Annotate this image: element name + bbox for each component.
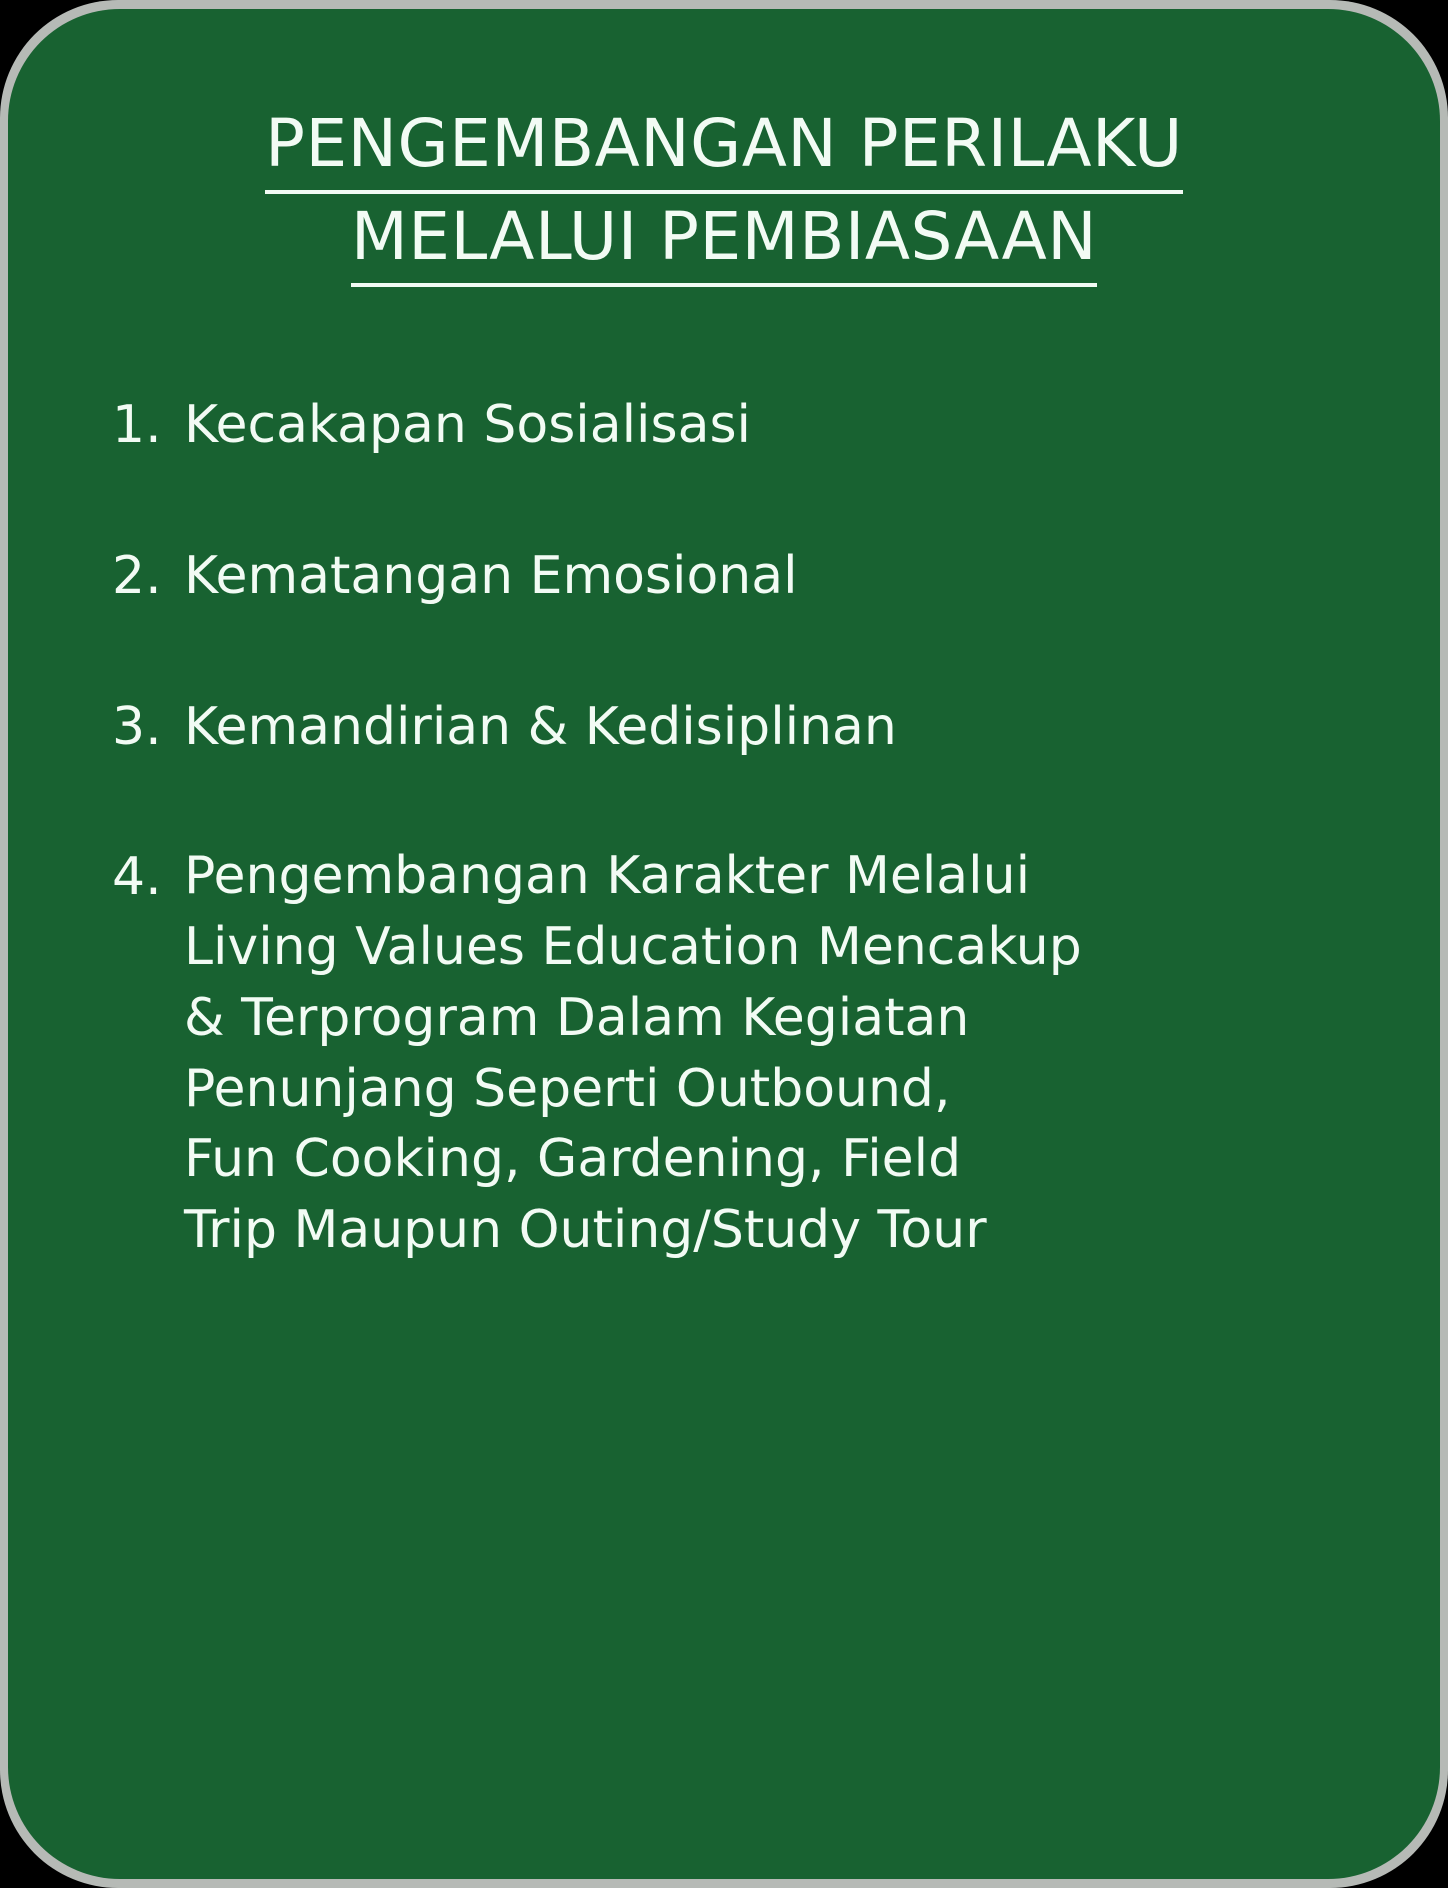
list-item-line: Pengembangan Karakter Melalui — [184, 841, 1402, 912]
list-item: 3. Kemandirian & Kedisiplinan — [112, 691, 1402, 764]
slide-frame-border: PENGEMBANGAN PERILAKU MELALUI PEMBIASAAN… — [0, 0, 1448, 1888]
page-title: PENGEMBANGAN PERILAKU MELALUI PEMBIASAAN — [8, 101, 1440, 287]
list-item-text: Kemandirian & Kedisiplinan — [184, 691, 1402, 764]
list-item: 1. Kecakapan Sosialisasi — [112, 389, 1402, 462]
list-item-line: Penunjang Seperti Outbound, — [184, 1054, 1402, 1125]
list-item-text: Kematangan Emosional — [184, 540, 1402, 613]
slide-root: PENGEMBANGAN PERILAKU MELALUI PEMBIASAAN… — [0, 0, 1448, 1888]
numbered-list: 1. Kecakapan Sosialisasi 2. Kematangan E… — [112, 389, 1402, 1266]
list-item: 2. Kematangan Emosional — [112, 540, 1402, 613]
slide-board: PENGEMBANGAN PERILAKU MELALUI PEMBIASAAN… — [8, 9, 1440, 1879]
list-item-line: Kemandirian & Kedisiplinan — [184, 691, 1402, 764]
title-line-1: PENGEMBANGAN PERILAKU — [8, 101, 1440, 194]
list-item-line: Kematangan Emosional — [184, 540, 1402, 613]
slide-content: PENGEMBANGAN PERILAKU MELALUI PEMBIASAAN… — [8, 9, 1440, 1879]
list-item-number: 4. — [112, 841, 184, 914]
list-item-line: Living Values Education Mencakup — [184, 912, 1402, 983]
list-item: 4. Pengembangan Karakter Melalui Living … — [112, 841, 1402, 1265]
title-line-2-text: MELALUI PEMBIASAAN — [351, 194, 1097, 287]
list-item-number: 3. — [112, 691, 184, 764]
title-line-1-text: PENGEMBANGAN PERILAKU — [265, 101, 1183, 194]
list-item-text: Kecakapan Sosialisasi — [184, 389, 1402, 462]
list-item-line: Fun Cooking, Gardening, Field — [184, 1124, 1402, 1195]
list-item-text: Pengembangan Karakter Melalui Living Val… — [184, 841, 1402, 1265]
list-item-line: Trip Maupun Outing/Study Tour — [184, 1195, 1402, 1266]
list-item-line: Kecakapan Sosialisasi — [184, 389, 1402, 462]
list-item-number: 1. — [112, 389, 184, 462]
list-item-line: & Terprogram Dalam Kegiatan — [184, 983, 1402, 1054]
list-item-number: 2. — [112, 540, 184, 613]
title-line-2: MELALUI PEMBIASAAN — [8, 194, 1440, 287]
